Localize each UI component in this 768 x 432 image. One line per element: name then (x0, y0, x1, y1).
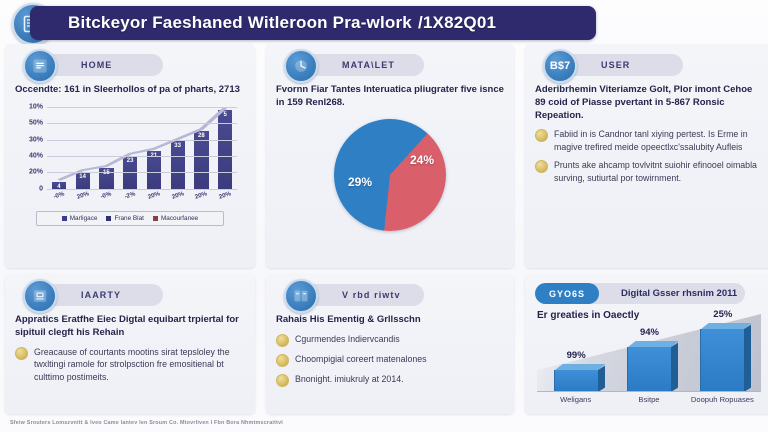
x-axis-tick: Weligans (560, 395, 591, 404)
legend-label: Marligace (70, 215, 98, 222)
legend-item: Marligace (62, 215, 98, 222)
list-item-label: Choompigial coreert matenalones (295, 353, 427, 365)
card-subtitle: Aderibrhemin Viteriamze Golt, Plor imont… (535, 84, 763, 122)
chart-pie-icon (284, 49, 318, 83)
legend-label: Macourfanee (161, 215, 198, 222)
page-footer: Sfeiw Srouters Lomszvnitt & Iveo Came la… (0, 411, 768, 429)
bar-3d: 94% (627, 347, 671, 392)
bullet-list: Fabiid in is Candnor tanl xiying pertest… (535, 128, 763, 184)
card-label-pill: MATA\LET (302, 54, 424, 76)
bar-chart-plot: 4-0%1420%15-0%23-2%2120%3320%2820%520% 1… (47, 107, 237, 189)
card-title: Digital Gsser rhsnim 2011 (621, 288, 737, 299)
card-header: B$7 USER (561, 52, 763, 82)
vrbdnv-card[interactable]: V rbd riwtv Rahais His Ementig & Grllssc… (266, 274, 514, 414)
page-header: Bitckeyor Faeshaned Witleroon Pra-wlork … (0, 0, 768, 46)
x-axis-tick: -0% (100, 190, 113, 200)
bar-3d: 25% (700, 329, 744, 392)
list-item: Bnonight. imiukruly at 2014. (276, 373, 504, 387)
y-axis-tick: 50% (29, 120, 43, 127)
bar-series-3d: 99%Weligans94%Bsitpe25%Doopuh Ropuases (539, 312, 759, 392)
x-axis-tick: 20% (147, 190, 161, 200)
legend-swatch (153, 216, 158, 221)
legend-label: Frane Blat (114, 215, 143, 222)
card-label: IAARTY (81, 290, 121, 300)
list-item: Cgurmendes Indiervcandis (276, 333, 504, 347)
header-title-bar: Bitckeyor Faeshaned Witleroon Pra-wlork … (30, 6, 596, 40)
list-item: Prunts ake ahcamp tovlvitnt suiohir efin… (535, 159, 763, 184)
grid-line: 30% (47, 140, 237, 141)
list-item: Fabiid in is Candnor tanl xiying pertest… (535, 128, 763, 153)
bar-item-3d: 99%Weligans (550, 370, 602, 392)
card-label: HOME (81, 60, 112, 70)
card-label: V rbd riwtv (342, 290, 401, 300)
card-label-pill: IAARTY (41, 284, 163, 306)
footer-text: Sfeiw Srouters Lomszvnitt & Iveo Came la… (10, 420, 283, 426)
archive-box-icon (23, 279, 57, 313)
pie-slice-label-1: 24% (410, 153, 434, 167)
x-axis-tick: Doopuh Ropuases (691, 395, 754, 404)
page-title: Bitckeyor Faeshaned Witleroon Pra-wlork (68, 13, 412, 33)
pie-chart: 24% 29% (276, 116, 504, 234)
user-badge-icon: B$7 (543, 49, 577, 83)
card-subtitle: Fvornn Fiar Tantes Interuatica pliugrate… (276, 84, 504, 110)
gyo6s-card[interactable]: Digital Gsser rhsnim 2011 GYO6S Er great… (525, 274, 768, 414)
iaarty-card[interactable]: IAARTY Appratics Eratfhe Eiec Digtal equ… (5, 274, 255, 414)
list-item-label: Bnonight. imiukruly at 2014. (295, 373, 404, 385)
bar-item-3d: 94%Bsitpe (623, 347, 675, 392)
pie-graphic: 24% 29% (334, 119, 446, 231)
bar-item-3d: 25%Doopuh Ropuases (696, 329, 748, 392)
two-cards-icon (284, 279, 318, 313)
bullet-coin-icon (535, 129, 548, 142)
trend-line (47, 107, 237, 189)
card-label-pill: USER (561, 54, 683, 76)
bar-chart: 4-0%1420%15-0%23-2%2120%3320%2820%520% 1… (17, 103, 243, 207)
legend-item: Macourfanee (153, 215, 198, 222)
card-label-pill: HOME (41, 54, 163, 76)
grid-line: 0 (47, 189, 237, 190)
bar-chart-3d: Er greaties in Oaectly 99%Weligans94%Bsi… (535, 308, 763, 408)
grid-line: 50% (47, 123, 237, 124)
matalet-card[interactable]: MATA\LET Fvornn Fiar Tantes Interuatica … (266, 44, 514, 268)
y-axis-tick: 10% (29, 103, 43, 110)
card-label-pill: V rbd riwtv (302, 284, 424, 306)
card-tag: GYO6S (549, 289, 585, 299)
bar-value-label: 25% (713, 309, 732, 320)
bullet-list: Cgurmendes Indiervcandis Choompigial cor… (276, 333, 504, 387)
chart-title: Er greaties in Oaectly (537, 310, 639, 321)
card-header: IAARTY (41, 282, 245, 312)
page-title-code: /1X82Q01 (418, 13, 496, 33)
list-document-icon (23, 49, 57, 83)
bullet-coin-icon (15, 347, 28, 360)
legend-swatch (62, 216, 67, 221)
card-header: Digital Gsser rhsnim 2011 GYO6S (535, 282, 763, 306)
bullet-coin-icon (276, 334, 289, 347)
x-axis-tick: 20% (171, 190, 185, 200)
bullet-coin-icon (535, 160, 548, 173)
card-header: HOME (41, 52, 245, 82)
card-subtitle: Appratics Eratfhe Eiec Digtal equibart t… (15, 314, 245, 340)
bar-3d: 99% (554, 370, 598, 392)
list-item-label: Fabiid in is Candnor tanl xiying pertest… (554, 128, 763, 153)
x-axis-tick: 20% (76, 190, 90, 200)
card-tag-pill: GYO6S (535, 283, 599, 304)
card-title-pill: Digital Gsser rhsnim 2011 (585, 283, 745, 304)
infographic-page: Bitckeyor Faeshaned Witleroon Pra-wlork … (0, 0, 768, 432)
list-item-label: Prunts ake ahcamp tovlvitnt suiohir efin… (554, 159, 763, 184)
bullet-coin-icon (276, 374, 289, 387)
chart-legend: MarligaceFrane BlatMacourfanee (36, 211, 224, 226)
bullet-list: Greacause of courtants mootins sirat tep… (15, 346, 245, 383)
y-axis-tick: 30% (29, 136, 43, 143)
y-axis-tick: 0 (39, 185, 43, 192)
x-axis-tick: -2% (124, 190, 137, 200)
legend-item: Frane Blat (106, 215, 143, 222)
card-label: USER (601, 60, 630, 70)
list-item: Choompigial coreert matenalones (276, 353, 504, 367)
card-header: MATA\LET (302, 52, 504, 82)
pie-slice-label-0: 29% (348, 175, 372, 189)
user-card[interactable]: B$7 USER Aderibrhemin Viteriamze Golt, P… (525, 44, 768, 268)
x-axis-tick: 20% (218, 190, 232, 200)
bar-value-label: 99% (567, 350, 586, 361)
home-card[interactable]: HOME Occendte: 161 in Sleerhollos of pa … (5, 44, 255, 268)
grid-line: 20% (47, 172, 237, 173)
list-item: Greacause of courtants mootins sirat tep… (15, 346, 245, 383)
card-subtitle: Rahais His Ementig & Grllsschn (276, 314, 504, 327)
list-item-label: Cgurmendes Indiervcandis (295, 333, 400, 345)
card-label: MATA\LET (342, 60, 395, 70)
grid-line: 40% (47, 156, 237, 157)
chart-axis (537, 391, 761, 392)
list-item-label: Greacause of courtants mootins sirat tep… (34, 346, 245, 383)
badge-text: B$7 (550, 60, 570, 72)
card-grid: HOME Occendte: 161 in Sleerhollos of pa … (0, 44, 768, 416)
x-axis-tick: Bsitpe (638, 395, 659, 404)
x-axis-tick: 20% (194, 190, 208, 200)
grid-line: 10% (47, 107, 237, 108)
card-header: V rbd riwtv (302, 282, 504, 312)
legend-swatch (106, 216, 111, 221)
y-axis-tick: 20% (29, 169, 43, 176)
card-subtitle: Occendte: 161 in Sleerhollos of pa of ph… (15, 84, 245, 97)
bullet-coin-icon (276, 354, 289, 367)
x-axis-tick: -0% (53, 190, 66, 200)
y-axis-tick: 40% (29, 153, 43, 160)
bar-value-label: 94% (640, 327, 659, 338)
